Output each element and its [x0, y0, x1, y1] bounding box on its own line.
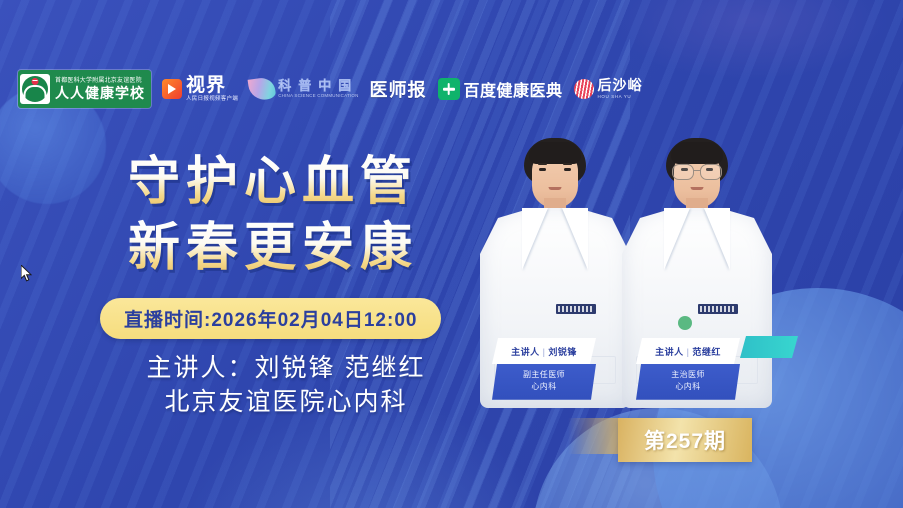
hospital-emblem-icon: [20, 74, 50, 104]
logo-shijie-name: 视界: [186, 76, 238, 95]
logo-kepu-char-3: 中: [318, 79, 331, 92]
poster-title: 守护心血管 新春更安康: [128, 152, 418, 279]
logo-shijie-subtitle: 人民日报视频客户端: [186, 97, 238, 103]
episode-number-text: 第257期: [644, 430, 726, 453]
logo-kepu-char-1: 科: [278, 79, 291, 92]
nameplate-details-fan: 主治医师 心内科: [636, 364, 740, 400]
logo-kepu-zhongguo: 科 普 中 国 CHINA SCIENCE COMMUNICATION: [249, 78, 358, 100]
logo-houshayu: 后沙峪 HOU SHA YU: [574, 79, 643, 100]
presenter-affiliation: 北京友谊医院心内科: [146, 386, 426, 420]
doctor-head-fan: [666, 138, 728, 212]
episode-badge: 第257期: [618, 418, 752, 462]
presenter-info: 主讲人：刘锐锋 范继红 北京友谊医院心内科: [146, 352, 426, 420]
logo-baidu-health-name: 百度健康医典: [464, 77, 563, 101]
nameplate-separator: |: [687, 347, 690, 357]
coat-badge-icon: [678, 316, 692, 330]
medical-cross-icon: [438, 78, 460, 100]
nameplate-name-liu: 刘锐锋: [548, 347, 577, 357]
nameplate-header-liu: 主讲人|刘锐锋: [492, 338, 596, 364]
partner-logo-bar: 首都医科大学附属北京友谊医院 人人健康学校 视界 人民日报视频客户端 科 普 中…: [18, 68, 643, 110]
nameplate-role-liu: 主讲人: [511, 347, 540, 357]
livestream-time-badge: 直播时间:2026年02月04日12:00: [100, 298, 441, 339]
coat-name-tag: [556, 304, 596, 314]
title-line-2: 新春更安康: [128, 218, 418, 278]
nameplate-dept-fan: 心内科: [636, 381, 740, 393]
logo-kepu-char-2: 普: [298, 79, 311, 92]
eyeglasses-icon: [671, 164, 723, 178]
logo-renren-health-school: 首都医科大学附属北京友谊医院 人人健康学校: [18, 70, 151, 108]
decor-teal-accent-bar: [740, 336, 798, 358]
nameplate-dept-liu: 心内科: [492, 381, 596, 393]
coat-name-tag: [698, 304, 738, 314]
presenter-names: 主讲人：刘锐锋 范继红: [146, 352, 426, 386]
play-triangle-icon: [162, 79, 182, 99]
logo-school-name: 人人健康学校: [55, 86, 145, 100]
title-line-1: 守护心血管: [128, 152, 418, 212]
nameplate-role-fan: 主讲人: [655, 347, 684, 357]
livestream-time-text: 直播时间:2026年02月04日12:00: [124, 310, 417, 331]
feather-wing-icon: [248, 76, 277, 101]
nameplate-title-fan: 主治医师: [636, 369, 740, 381]
livestream-poster: 首都医科大学附属北京友谊医院 人人健康学校 视界 人民日报视频客户端 科 普 中…: [0, 0, 903, 508]
doctor-head-liu: [524, 138, 586, 212]
mouse-pointer-icon: [21, 265, 33, 283]
nameplate-details-liu: 副主任医师 心内科: [492, 364, 596, 400]
nameplate-name-fan: 范继红: [692, 347, 721, 357]
episode-badge-tail: [568, 418, 622, 454]
logo-houshayu-pinyin: HOU SHA YU: [598, 95, 643, 100]
background-top-glow: [610, 0, 890, 80]
doctor-nameplate-fan: 主讲人|范继红 主治医师 心内科: [636, 338, 740, 400]
nameplate-title-liu: 副主任医师: [492, 369, 596, 381]
nameplate-header-fan: 主讲人|范继红: [636, 338, 740, 364]
logo-houshayu-name: 后沙峪: [598, 79, 643, 93]
logo-peoples-daily-shijie: 视界 人民日报视频客户端: [162, 76, 238, 103]
logo-kepu-subtitle: CHINA SCIENCE COMMUNICATION: [278, 94, 358, 99]
logo-kepu-char-4: 国: [338, 79, 351, 92]
striped-sphere-icon: [574, 79, 594, 99]
logo-yishibao: 医师报: [370, 76, 427, 102]
nameplate-separator: |: [543, 347, 546, 357]
doctor-nameplate-liu: 主讲人|刘锐锋 副主任医师 心内科: [492, 338, 596, 400]
logo-hospital-fullname: 首都医科大学附属北京友谊医院: [55, 78, 145, 84]
logo-baidu-health: 百度健康医典: [438, 77, 563, 101]
